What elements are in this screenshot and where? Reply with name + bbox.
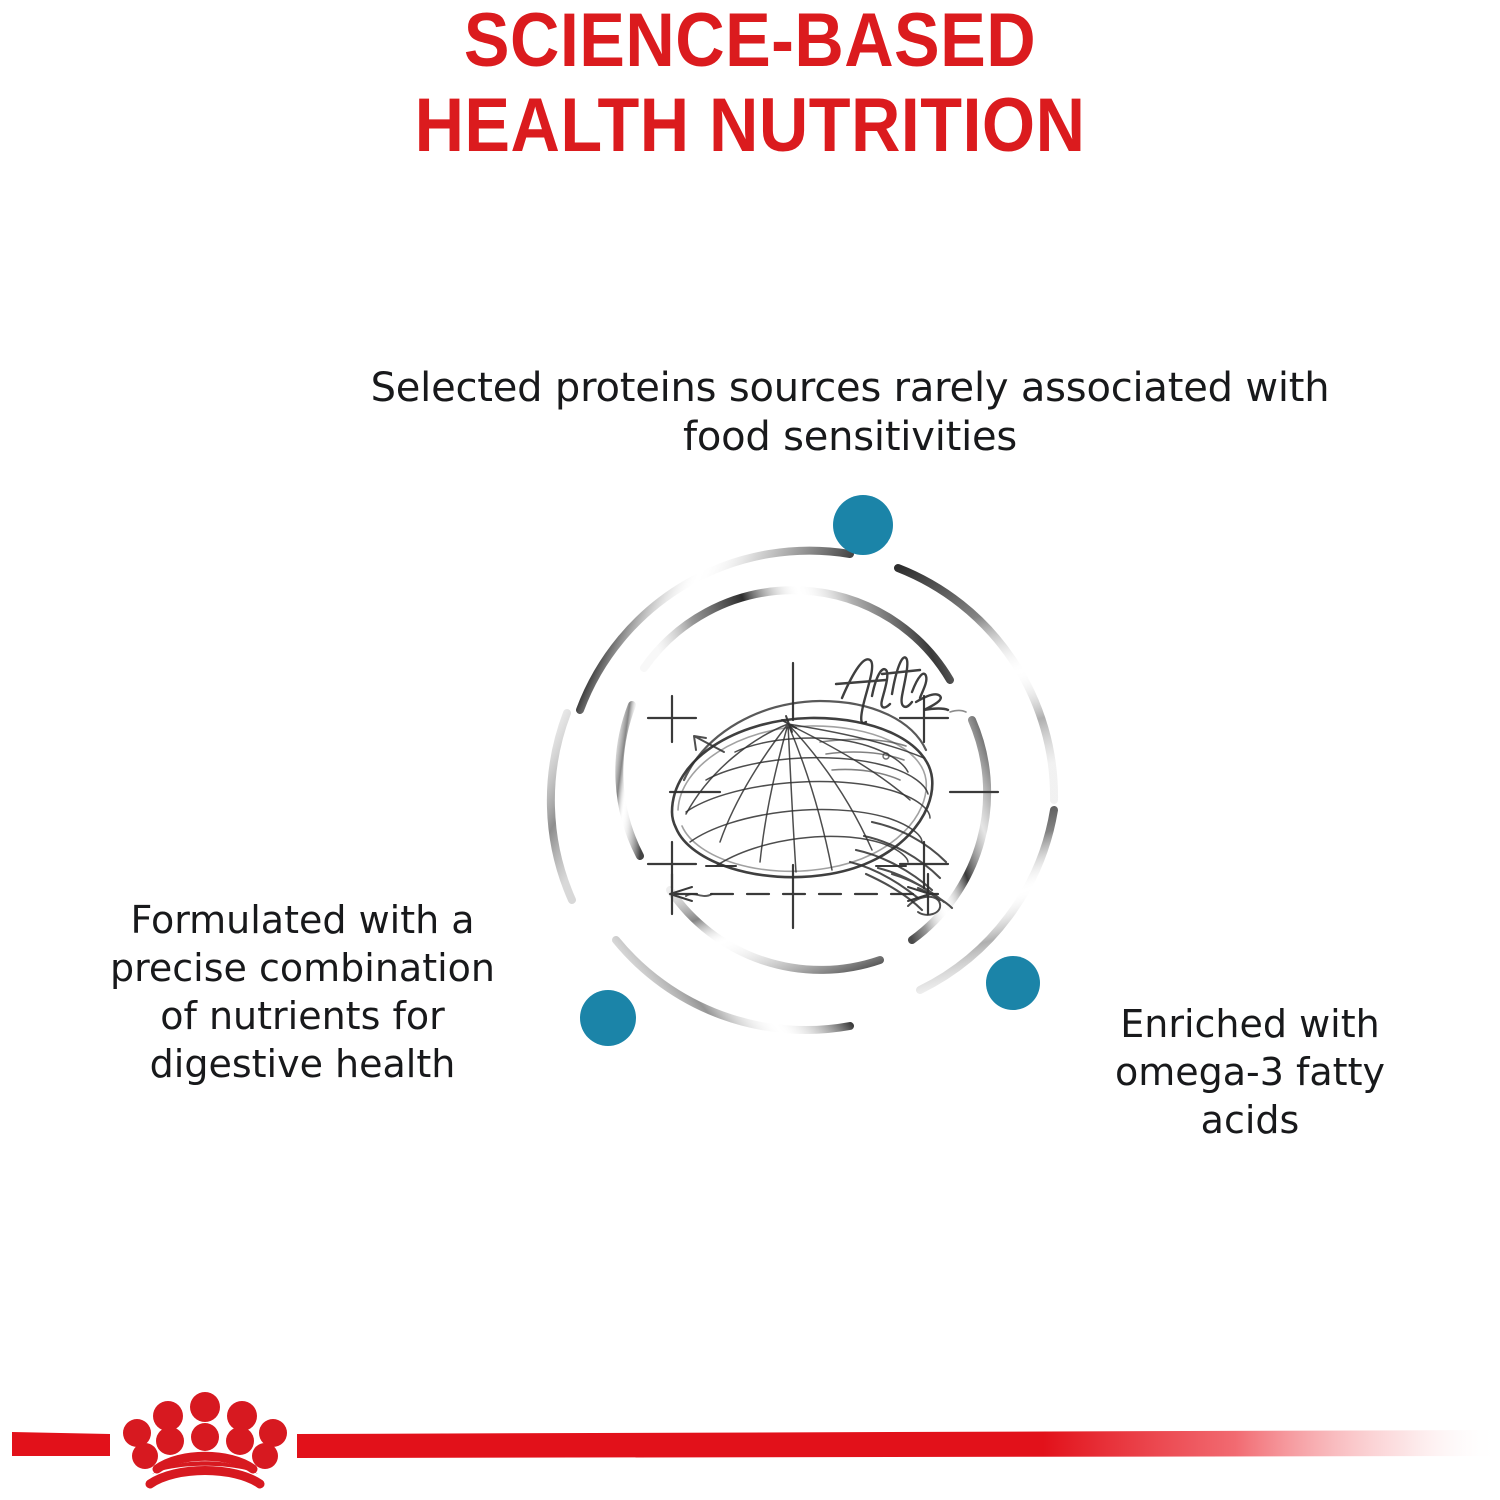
footer-bar-left	[12, 1432, 110, 1456]
feature-caption-omega3: Enriched with omega-3 fatty acids	[1070, 1000, 1430, 1144]
page-title: SCIENCE-BASED HEALTH NUTRITION	[75, 0, 1425, 168]
outer-ring-arcs	[551, 551, 1054, 1030]
brand-footer	[0, 1386, 1500, 1500]
registration-marks	[648, 663, 998, 928]
royal-canin-crown-logo	[123, 1392, 287, 1484]
dot-bottom-left	[580, 990, 636, 1046]
kibble-meridians	[686, 724, 924, 872]
dot-top-right	[833, 495, 893, 555]
page-title-line-1: SCIENCE-BASED	[75, 0, 1425, 83]
feature-caption-digestive-health: Formulated with a precise combination of…	[105, 896, 500, 1088]
kibble-sketch	[648, 657, 998, 928]
feature-caption-proteins: Selected proteins sources rarely associa…	[330, 364, 1370, 462]
kibble-outline	[672, 701, 932, 877]
kibble-design-sketch-graphic	[520, 470, 1100, 1090]
accent-dots	[580, 495, 1040, 1046]
poster-canvas: SCIENCE-BASED HEALTH NUTRITION Selected …	[0, 0, 1500, 1500]
dot-bottom-right	[986, 956, 1040, 1010]
page-title-line-2: HEALTH NUTRITION	[75, 83, 1425, 168]
footer-bar-right	[297, 1430, 1500, 1458]
